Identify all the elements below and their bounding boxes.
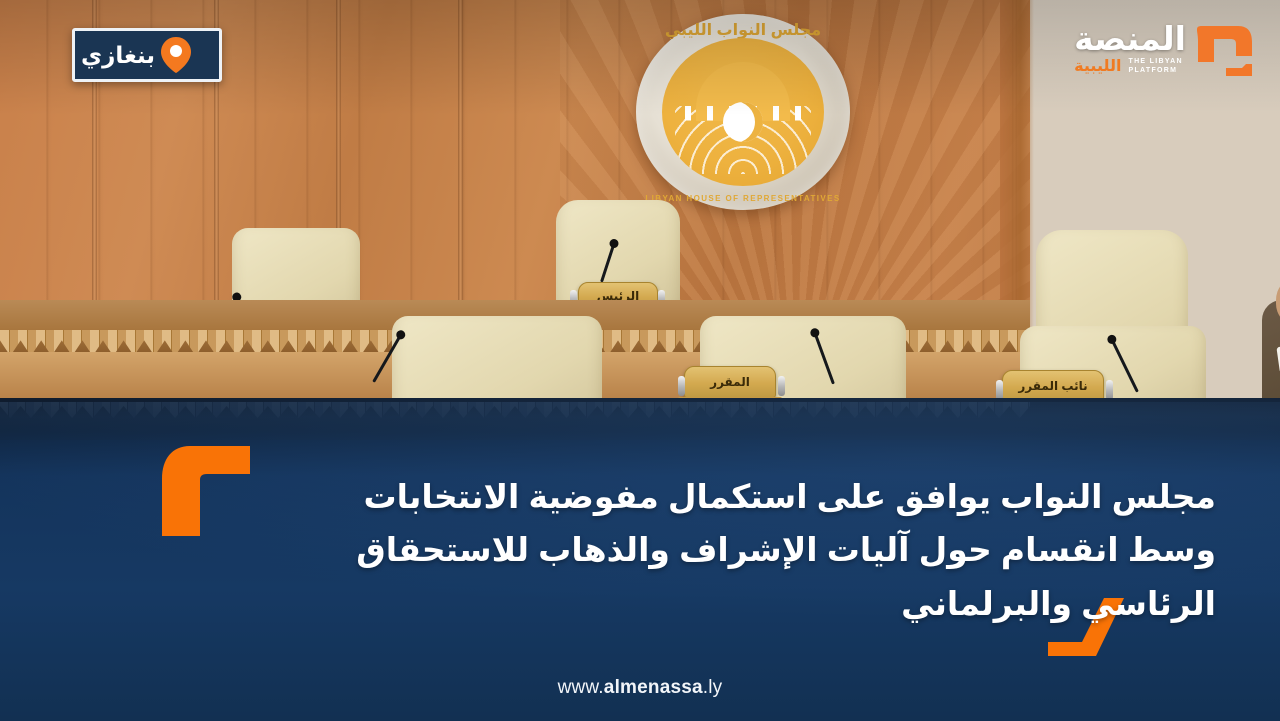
parliament-emblem: مجلس النواب الليبي LIBYAN HOUSE OF REPRE… (636, 14, 850, 210)
brand-name-arabic-secondary: الليبية (1074, 59, 1121, 75)
quote-open-icon (162, 446, 250, 536)
emblem-inner-disc (662, 38, 824, 186)
plate-post (996, 380, 1003, 400)
news-card: مجلس النواب الليبي LIBYAN HOUSE OF REPRE… (0, 0, 1280, 721)
url-brand: almenassa (604, 677, 703, 698)
nameplate-rapporteur: المقرر (684, 366, 776, 398)
headline-line-1: مجلس النواب يوافق على استكمال مفوضية الا… (276, 470, 1216, 523)
map-pin-icon (161, 37, 191, 73)
plate-post (1106, 380, 1113, 400)
website-url[interactable]: www.almenassa.ly (0, 677, 1280, 699)
brand-logo[interactable]: المنصة THE LIBYANPLATFORM الليبية (1074, 18, 1254, 80)
almenassa-logo-mark-icon (1192, 18, 1254, 80)
emblem-title-arabic: مجلس النواب الليبي (636, 20, 850, 40)
location-badge[interactable]: بنغازي (72, 28, 222, 82)
url-prefix: www. (558, 677, 604, 698)
headline: مجلس النواب يوافق على استكمال مفوضية الا… (276, 470, 1216, 630)
nameplate-label: المقرر (710, 375, 750, 389)
brand-wordmark: المنصة THE LIBYANPLATFORM الليبية (1074, 22, 1186, 76)
url-tld: .ly (703, 677, 723, 698)
plate-post (778, 376, 785, 396)
nameplate-label: نائب المقرر (1018, 379, 1087, 393)
location-label: بنغازي (81, 42, 155, 69)
brand-name-arabic: المنصة (1074, 22, 1186, 55)
plate-post (678, 376, 685, 396)
emblem-crescent (723, 102, 763, 142)
headline-line-3: الرئاسي والبرلماني (276, 577, 1216, 630)
brand-name-english: THE LIBYANPLATFORM (1129, 58, 1183, 76)
headline-line-2: وسط انقسام حول آليات الإشراف والذهاب للا… (276, 523, 1216, 576)
